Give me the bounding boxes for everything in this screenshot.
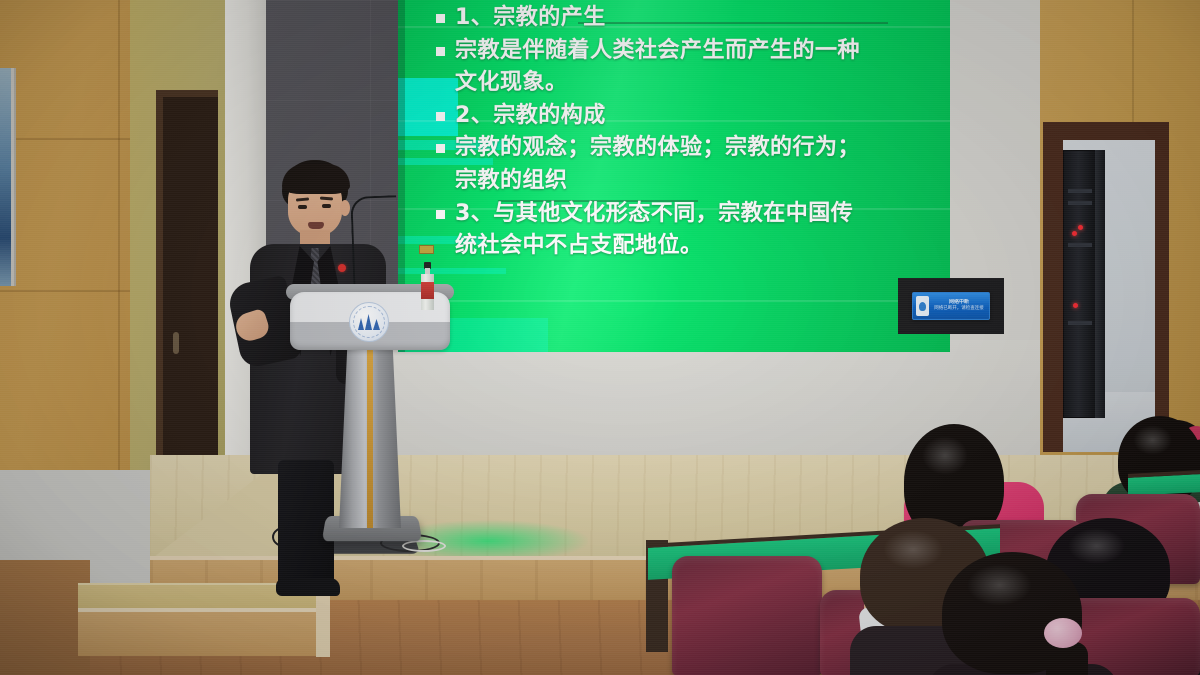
- slide-line: 宗教的观念；宗教的体验；宗教的行为；: [436, 134, 936, 163]
- notification-text: 网络中断 网络已断开，请检查连接: [932, 299, 986, 313]
- podium-label-tag: [419, 245, 434, 254]
- lecture-desk: [1128, 470, 1200, 496]
- slide-text-block: 1、宗教的产生 宗教是伴随着人类社会产生而产生的一种 文化现象。 2、宗教的构成…: [436, 4, 936, 265]
- slide-line-text: 2、宗教的构成: [455, 102, 936, 131]
- server-rack: [1063, 150, 1097, 418]
- podium-column: [339, 338, 401, 528]
- door-handle-icon: [173, 332, 179, 354]
- bullet-square-icon: [436, 144, 445, 153]
- notification-toast[interactable]: 网络中断 网络已断开，请检查连接: [912, 292, 990, 320]
- slide-line: 文化现象。: [436, 69, 936, 98]
- student-hair: [942, 552, 1082, 674]
- bullet-square-icon: [436, 47, 445, 56]
- slide-line: 宗教是伴随着人类社会产生而产生的一种: [436, 37, 936, 66]
- window-edge: [0, 68, 14, 286]
- notification-icon: [916, 296, 929, 316]
- presenter-eye: [322, 204, 331, 208]
- audience-student-pink-scrunchie: [928, 552, 1118, 675]
- rack-shelf: [1068, 321, 1092, 325]
- slide-line-text: 1、宗教的产生: [455, 4, 936, 33]
- rack-led-indicator: [1073, 303, 1078, 308]
- slide-line: 1、宗教的产生: [436, 4, 936, 33]
- slide-line-text: 宗教的观念；宗教的体验；宗教的行为；: [455, 134, 936, 163]
- slide-line-text: 3、与其他文化形态不同，宗教在中国传: [455, 200, 936, 229]
- slide-line-text: 文化现象。: [455, 69, 936, 98]
- presenter-eye: [298, 205, 307, 209]
- podium-accent-stripe: [367, 338, 373, 528]
- hall-floor-shadow: [0, 560, 90, 675]
- slide-line-text: 宗教是伴随着人类社会产生而产生的一种: [455, 37, 936, 66]
- lecture-seat[interactable]: [672, 556, 822, 675]
- slide-line-text: 统社会中不占支配地位。: [455, 232, 936, 261]
- rack-shelf: [1068, 243, 1092, 247]
- university-crest-icon: [349, 302, 389, 342]
- rack-led-indicator: [1078, 225, 1083, 230]
- panel-seam: [118, 0, 120, 470]
- door-left[interactable]: [156, 90, 218, 470]
- bullet-square-icon: [436, 210, 445, 219]
- screen-artifact: [398, 268, 506, 274]
- lapel-pin: [338, 264, 346, 272]
- presenter-hair-front: [282, 164, 350, 194]
- presenter-shoe: [276, 578, 340, 596]
- gooseneck-microphone: [352, 196, 398, 296]
- screen-scanline: [398, 300, 950, 302]
- rack-shelf: [1068, 189, 1092, 193]
- rack-led-indicator: [1072, 231, 1077, 236]
- slide-line-text: 宗教的组织: [455, 167, 936, 196]
- stage-step-face: [78, 612, 316, 656]
- notification-subtitle: 网络已断开，请检查连接: [932, 306, 986, 313]
- projection-screen: 1、宗教的产生 宗教是伴随着人类社会产生而产生的一种 文化现象。 2、宗教的构成…: [398, 0, 950, 352]
- water-bottle: [421, 262, 434, 310]
- lecture-hall-scene: 1、宗教的产生 宗教是伴随着人类社会产生而产生的一种 文化现象。 2、宗教的构成…: [0, 0, 1200, 675]
- rack-shelf: [1068, 201, 1092, 205]
- slide-line: 3、与其他文化形态不同，宗教在中国传: [436, 200, 936, 229]
- presenter-ear: [340, 200, 350, 216]
- hair-scrunchie: [1044, 618, 1082, 648]
- slide-line: 宗教的组织: [436, 167, 936, 196]
- slide-line: 统社会中不占支配地位。: [436, 232, 936, 261]
- bullet-square-icon: [436, 112, 445, 121]
- slide-line: 2、宗教的构成: [436, 102, 936, 131]
- bullet-square-icon: [436, 14, 445, 23]
- presenter-mouth: [308, 222, 324, 229]
- rack-door-panel: [1095, 150, 1105, 418]
